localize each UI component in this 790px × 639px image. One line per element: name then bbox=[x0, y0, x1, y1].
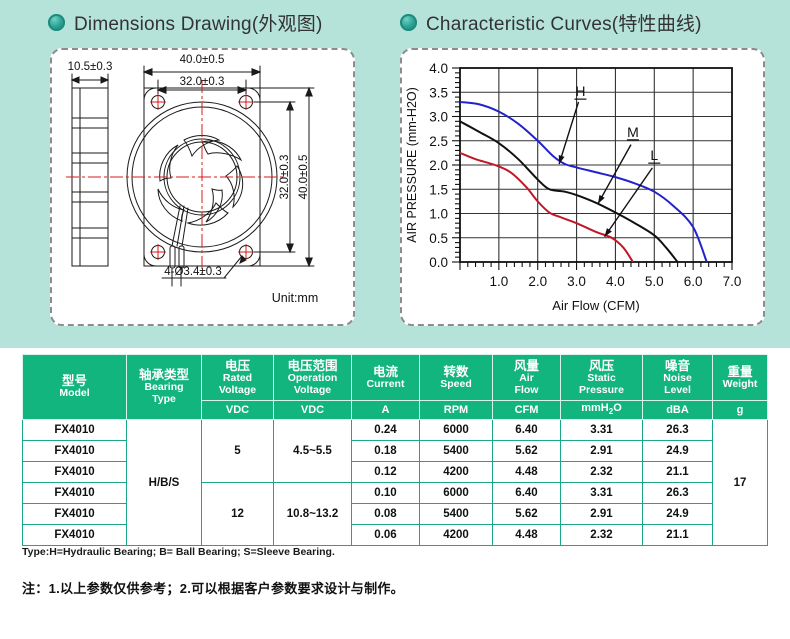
table-row: FX4010H/B/S54.5~5.50.2460006.403.3126.31… bbox=[23, 420, 768, 441]
header-en: Type bbox=[127, 393, 201, 405]
table-head: 型号Model轴承类型BearingType电压RatedVoltage电压范围… bbox=[23, 355, 768, 420]
table-header-rated: 电压RatedVoltage bbox=[202, 355, 274, 401]
cell-airflow: 6.40 bbox=[493, 420, 561, 441]
dim-outer-height-label: 40.0±0.5 bbox=[298, 155, 310, 200]
unit-label: Unit:mm bbox=[272, 291, 319, 305]
y-axis-title: AIR PRESSURE (mm-H2O) bbox=[405, 87, 419, 243]
cell-rated-voltage: 12 bbox=[202, 483, 274, 546]
cell-current: 0.10 bbox=[352, 483, 420, 504]
unit-cfm: CFM bbox=[493, 401, 561, 420]
cell-airflow: 6.40 bbox=[493, 483, 561, 504]
cell-weight: 17 bbox=[713, 420, 768, 546]
table-header-speed: 转数Speed bbox=[420, 355, 493, 401]
x-tick-label: 4.0 bbox=[606, 274, 625, 289]
cell-current: 0.06 bbox=[352, 525, 420, 546]
cell-model: FX4010 bbox=[23, 483, 127, 504]
header-en: Bearing bbox=[127, 381, 201, 393]
y-tick-label: 2.5 bbox=[429, 134, 448, 149]
header-en: Weight bbox=[713, 378, 767, 390]
cell-speed: 6000 bbox=[420, 483, 493, 504]
unit-vdc: VDC bbox=[274, 401, 352, 420]
header-cn: 电流 bbox=[352, 366, 419, 378]
section-title-curves: Characteristic Curves(特性曲线) bbox=[426, 9, 702, 36]
bullet-circle-icon bbox=[400, 14, 417, 31]
header-cn: 型号 bbox=[23, 375, 126, 387]
fan-dimensions-drawing: 10.5±0.3 40.0±0.5 32.0±0.3 32.0±0.3 40.0… bbox=[52, 50, 353, 324]
header-cn: 风量 bbox=[493, 360, 560, 372]
annotation-label-l: L bbox=[650, 147, 658, 163]
characteristic-curves-panel: 0.00.51.01.52.02.53.03.54.01.02.03.04.05… bbox=[400, 48, 765, 326]
table-body: FX4010H/B/S54.5~5.50.2460006.403.3126.31… bbox=[23, 420, 768, 546]
cell-airflow: 4.48 bbox=[493, 525, 561, 546]
cell-model: FX4010 bbox=[23, 462, 127, 483]
table-header-row: 型号Model轴承类型BearingType电压RatedVoltage电压范围… bbox=[23, 355, 768, 401]
header-en: Noise bbox=[643, 372, 712, 384]
bearing-type-note: Type:H=Hydraulic Bearing; B= Ball Bearin… bbox=[22, 546, 335, 558]
characteristic-curves-chart: 0.00.51.01.52.02.53.03.54.01.02.03.04.05… bbox=[402, 50, 763, 324]
unit-vdc: VDC bbox=[202, 401, 274, 420]
x-axis-title: Air Flow (CFM) bbox=[552, 298, 639, 313]
x-tick-label: 1.0 bbox=[489, 274, 508, 289]
header-cn: 电压范围 bbox=[274, 360, 351, 372]
cell-static-pressure: 2.91 bbox=[561, 441, 643, 462]
y-tick-label: 4.0 bbox=[429, 61, 448, 76]
section-header-curves: Characteristic Curves(特性曲线) bbox=[400, 9, 702, 36]
table-header-noise: 噪音NoiseLevel bbox=[643, 355, 713, 401]
x-tick-label: 6.0 bbox=[684, 274, 703, 289]
cell-static-pressure: 2.32 bbox=[561, 525, 643, 546]
y-tick-label: 0.0 bbox=[429, 255, 448, 270]
cell-noise: 24.9 bbox=[643, 441, 713, 462]
cell-model: FX4010 bbox=[23, 504, 127, 525]
header-cn: 风压 bbox=[561, 360, 642, 372]
y-tick-label: 3.5 bbox=[429, 85, 448, 100]
unit-rpm: RPM bbox=[420, 401, 493, 420]
table-header-weight: 重量Weight bbox=[713, 355, 768, 401]
section-header-dimensions: Dimensions Drawing(外观图) bbox=[48, 9, 322, 36]
page-root: Dimensions Drawing(外观图) Characteristic C… bbox=[0, 0, 790, 639]
dim-hole-width-label: 32.0±0.3 bbox=[180, 76, 225, 88]
annotation-label-h: H bbox=[575, 83, 585, 99]
header-cn: 轴承类型 bbox=[127, 369, 201, 381]
table-header-operation: 电压范围OperationVoltage bbox=[274, 355, 352, 401]
header-en: Air bbox=[493, 372, 560, 384]
cell-speed: 6000 bbox=[420, 420, 493, 441]
cell-static-pressure: 3.31 bbox=[561, 420, 643, 441]
header-en: Voltage bbox=[202, 384, 273, 396]
chinese-note: 注：1.以上参数仅供参考；2.可以根据客户参数要求设计与制作。 bbox=[22, 578, 404, 597]
y-tick-label: 1.5 bbox=[429, 182, 448, 197]
y-tick-label: 1.0 bbox=[429, 207, 448, 222]
annotation-label-m: M bbox=[627, 124, 639, 140]
unit-g: g bbox=[713, 401, 768, 420]
table-header-static: 风压StaticPressure bbox=[561, 355, 643, 401]
header-en: Voltage bbox=[274, 384, 351, 396]
header-cn: 转数 bbox=[420, 366, 492, 378]
cell-model: FX4010 bbox=[23, 525, 127, 546]
header-en: Flow bbox=[493, 384, 560, 396]
cell-speed: 4200 bbox=[420, 462, 493, 483]
cell-airflow: 4.48 bbox=[493, 462, 561, 483]
cell-rated-voltage: 5 bbox=[202, 420, 274, 483]
unit-dba: dBA bbox=[643, 401, 713, 420]
table-header-air: 风量AirFlow bbox=[493, 355, 561, 401]
hole-callout-label: 4-Ø3.4±0.3 bbox=[164, 266, 221, 278]
x-tick-label: 5.0 bbox=[645, 274, 664, 289]
dimensions-drawing-panel: 10.5±0.3 40.0±0.5 32.0±0.3 32.0±0.3 40.0… bbox=[50, 48, 355, 326]
cell-model: FX4010 bbox=[23, 420, 127, 441]
x-tick-label: 7.0 bbox=[723, 274, 742, 289]
unit-a: A bbox=[352, 401, 420, 420]
header-cn: 噪音 bbox=[643, 360, 712, 372]
cell-noise: 26.3 bbox=[643, 483, 713, 504]
table-header-model: 型号Model bbox=[23, 355, 127, 420]
header-cn: 重量 bbox=[713, 366, 767, 378]
cell-speed: 4200 bbox=[420, 525, 493, 546]
header-en: Static bbox=[561, 372, 642, 384]
dim-hole-height-label: 32.0±0.3 bbox=[279, 155, 291, 200]
cell-current: 0.08 bbox=[352, 504, 420, 525]
cell-noise: 21.1 bbox=[643, 525, 713, 546]
unit-mmh2o: mmH2O bbox=[561, 401, 643, 420]
x-tick-label: 2.0 bbox=[528, 274, 547, 289]
header-en: Pressure bbox=[561, 384, 642, 396]
cell-noise: 26.3 bbox=[643, 420, 713, 441]
header-en: Model bbox=[23, 387, 126, 399]
header-en: Operation bbox=[274, 372, 351, 384]
cell-airflow: 5.62 bbox=[493, 504, 561, 525]
cell-static-pressure: 3.31 bbox=[561, 483, 643, 504]
header-en: Speed bbox=[420, 378, 492, 390]
dim-side-width-label: 10.5±0.3 bbox=[68, 61, 113, 73]
cell-airflow: 5.62 bbox=[493, 441, 561, 462]
cell-noise: 21.1 bbox=[643, 462, 713, 483]
table-header-current: 电流Current bbox=[352, 355, 420, 401]
y-tick-label: 0.5 bbox=[429, 231, 448, 246]
cell-bearing-type: H/B/S bbox=[127, 420, 202, 546]
header-en: Rated bbox=[202, 372, 273, 384]
section-title-dimensions: Dimensions Drawing(外观图) bbox=[74, 9, 322, 36]
cell-current: 0.12 bbox=[352, 462, 420, 483]
header-cn: 电压 bbox=[202, 360, 273, 372]
cell-speed: 5400 bbox=[420, 441, 493, 462]
cell-speed: 5400 bbox=[420, 504, 493, 525]
header-en: Level bbox=[643, 384, 712, 396]
bullet-circle-icon bbox=[48, 14, 65, 31]
y-tick-label: 3.0 bbox=[429, 110, 448, 125]
dim-outer-width-label: 40.0±0.5 bbox=[180, 54, 225, 66]
y-tick-label: 2.0 bbox=[429, 158, 448, 173]
cell-static-pressure: 2.32 bbox=[561, 462, 643, 483]
table-header-bearing: 轴承类型BearingType bbox=[127, 355, 202, 420]
specification-table: 型号Model轴承类型BearingType电压RatedVoltage电压范围… bbox=[22, 354, 768, 546]
cell-noise: 24.9 bbox=[643, 504, 713, 525]
cell-operation-voltage: 4.5~5.5 bbox=[274, 420, 352, 483]
cell-model: FX4010 bbox=[23, 441, 127, 462]
cell-current: 0.24 bbox=[352, 420, 420, 441]
cell-static-pressure: 2.91 bbox=[561, 504, 643, 525]
cell-current: 0.18 bbox=[352, 441, 420, 462]
x-tick-label: 3.0 bbox=[567, 274, 586, 289]
header-en: Current bbox=[352, 378, 419, 390]
cell-operation-voltage: 10.8~13.2 bbox=[274, 483, 352, 546]
